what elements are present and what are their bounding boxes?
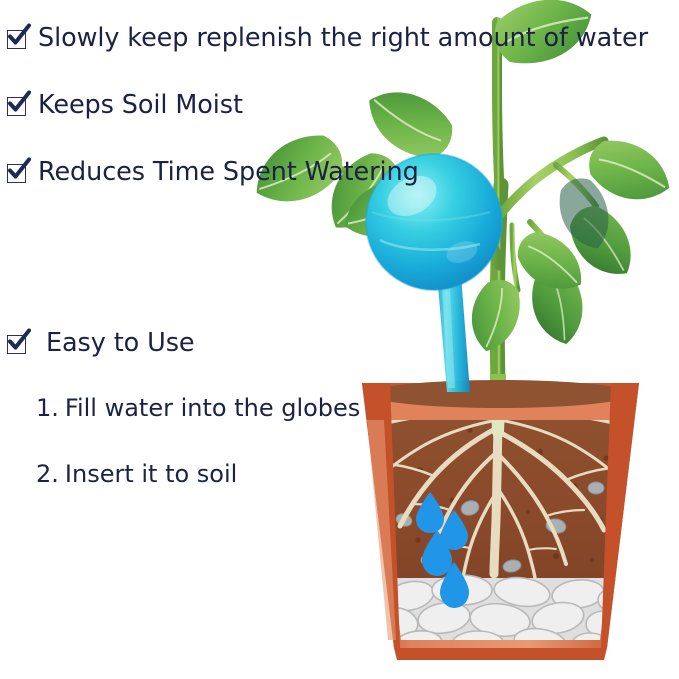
step-number: 2. bbox=[36, 460, 59, 488]
step-label: Fill water into the globes bbox=[65, 394, 360, 422]
step-item-1: 1.Fill water into the globes bbox=[36, 396, 360, 420]
feature-item-3: Easy to Use bbox=[6, 331, 194, 357]
step-label: Insert it to soil bbox=[65, 460, 237, 488]
text-layer: Slowly keep replenish the right amount o… bbox=[0, 0, 679, 679]
checkbox-checked-icon bbox=[6, 94, 30, 118]
infographic-page: Slowly keep replenish the right amount o… bbox=[0, 0, 679, 679]
step-number: 1. bbox=[36, 394, 59, 422]
feature-label: Slowly keep replenish the right amount o… bbox=[38, 26, 648, 52]
checkbox-checked-icon bbox=[6, 27, 30, 51]
step-item-2: 2.Insert it to soil bbox=[36, 462, 237, 486]
feature-item-2: Reduces Time Spent Watering bbox=[6, 160, 419, 186]
checkbox-checked-icon bbox=[6, 332, 30, 356]
feature-label: Easy to Use bbox=[46, 331, 194, 357]
feature-item-1: Keeps Soil Moist bbox=[6, 93, 243, 119]
feature-label: Reduces Time Spent Watering bbox=[38, 160, 419, 186]
feature-item-0: Slowly keep replenish the right amount o… bbox=[6, 26, 648, 52]
feature-label: Keeps Soil Moist bbox=[38, 93, 243, 119]
checkbox-checked-icon bbox=[6, 161, 30, 185]
